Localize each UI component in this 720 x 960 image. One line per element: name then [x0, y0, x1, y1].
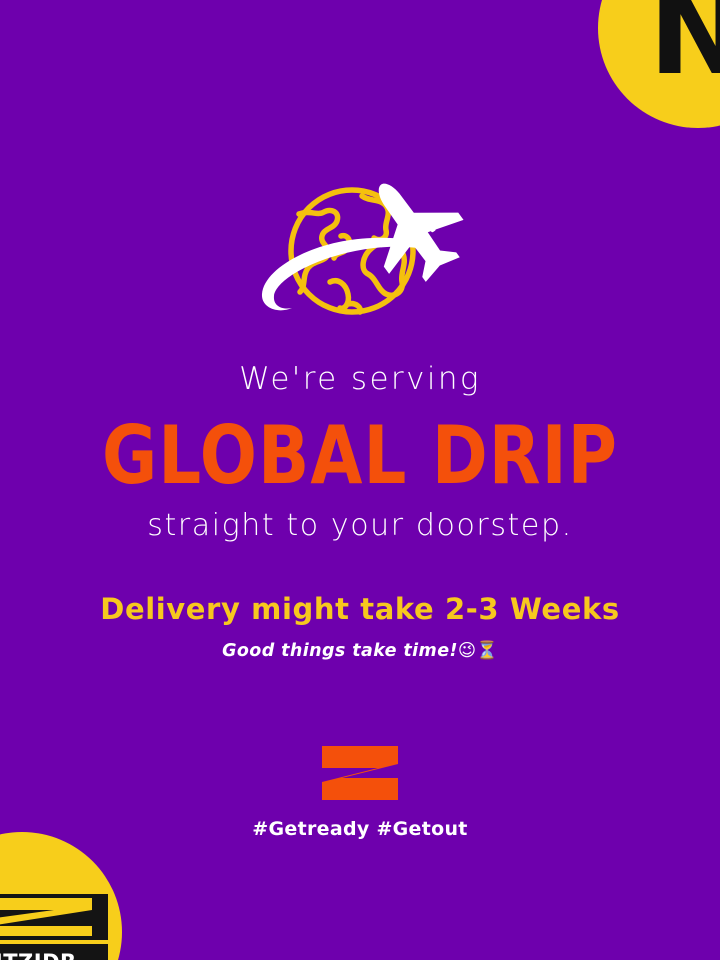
hourglass-icon: ⏳ [476, 641, 498, 661]
hashtags: #Getready #Getout [0, 818, 720, 840]
delivery-estimate: Delivery might take 2-3 Weeks [28, 592, 692, 627]
copy-block: We're serving GLOBAL DRIP straight to yo… [0, 362, 720, 662]
winking-face-icon: 😉 [458, 641, 476, 661]
hero-illustration [0, 176, 720, 336]
z-logo-mark [320, 744, 400, 802]
badge-wordmark-z: Z [18, 950, 34, 960]
good-things-text: Good things take time! [222, 641, 458, 661]
outzidr-badge-bottom-left: OUTZIDR · OUTZIDR · OUTZIDR · OUTZIDR · … [0, 832, 122, 960]
doorstep-line: straight to your doorstep. [28, 509, 692, 544]
globe-with-airplane-icon [244, 176, 476, 336]
footer-block: #Getready #Getout [0, 744, 720, 840]
badge-wordmark-right: IDR [34, 950, 77, 960]
badge-wordmark: OUTZIDR [0, 950, 77, 960]
badge-letter-top-right: N [649, 0, 720, 101]
outzidr-badge-top-right: OUTZIDR · OUTZIDR · OUTZIDR · OUTZIDR · … [598, 0, 720, 128]
good-things-line: Good things take time!😉⏳ [28, 641, 692, 662]
badge-inner-mark: OUTZIDR [0, 894, 108, 960]
headline: GLOBAL DRIP [21, 412, 698, 499]
poster-canvas: OUTZIDR · OUTZIDR · OUTZIDR · OUTZIDR · … [0, 0, 720, 960]
badge-wordmark-left: OUT [0, 950, 18, 960]
serving-line: We're serving [28, 362, 692, 396]
